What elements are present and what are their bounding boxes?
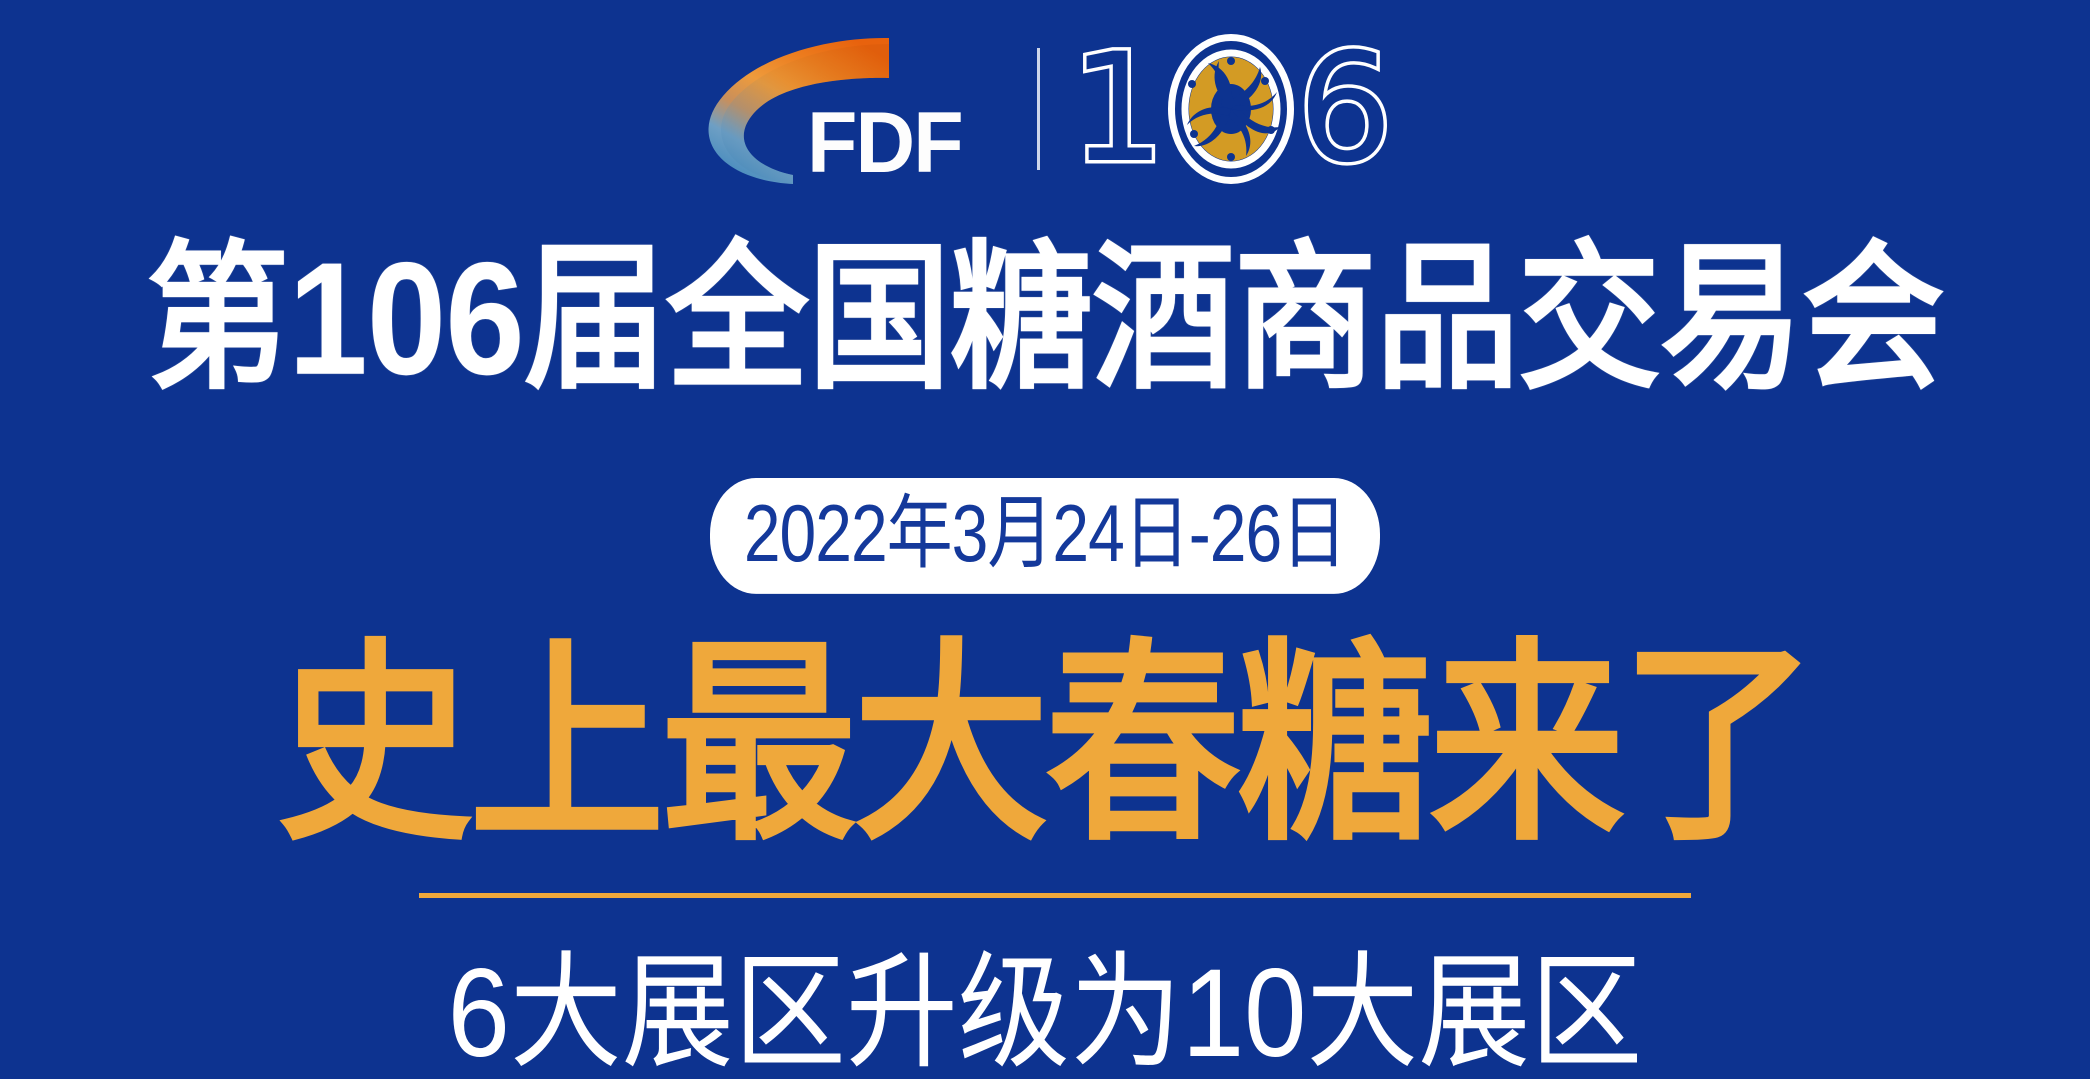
- date-badge: 2022年3月24日-26日: [710, 478, 1380, 593]
- logo-divider: [1037, 48, 1040, 170]
- date-badge-wrapper: 2022年3月24日-26日: [0, 478, 2090, 573]
- fdf-wordmark: FDF: [807, 105, 962, 182]
- edition-number-106: 1: [1070, 34, 1389, 184]
- gold-divider-rule: [419, 893, 1691, 898]
- gold-headline: 史上最大春糖来了: [0, 638, 2090, 854]
- ornament-zero-icon: [1168, 34, 1294, 184]
- page-title: 第106届全国糖酒商品交易会: [0, 236, 2090, 404]
- poster-canvas: FDF 1: [0, 0, 2090, 1079]
- bottom-subtitle: 6大展区升级为10大展区: [0, 946, 2090, 1079]
- logo-lockup: FDF 1: [0, 34, 2090, 184]
- edition-digit-1: 1: [1070, 34, 1161, 184]
- fdf-logo: FDF: [701, 34, 1011, 184]
- edition-digit-6: 6: [1298, 34, 1389, 184]
